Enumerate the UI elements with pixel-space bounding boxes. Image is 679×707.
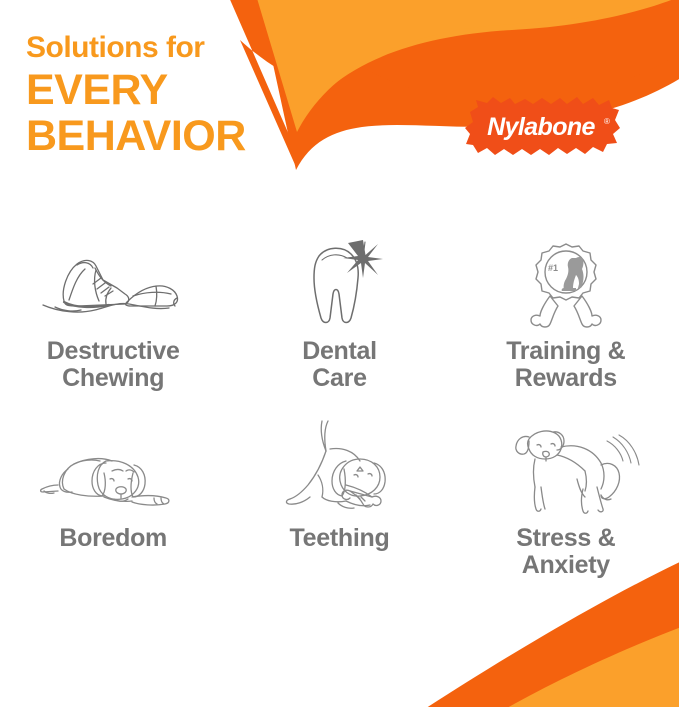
nylabone-logo: Nylabone ® [463, 88, 623, 168]
grid-item-label: Destructive Chewing [47, 338, 180, 392]
award-rosette-dog-icon: #1 [506, 238, 626, 330]
grid-item-label: Teething [290, 525, 390, 552]
grid-item-label: Training & Rewards [506, 338, 625, 392]
badge-rank-label: #1 [548, 263, 558, 273]
bottom-swoosh-light-shape [500, 626, 679, 707]
grid-item-boredom: Boredom [0, 419, 226, 600]
grid-item-label: Dental Care [302, 338, 377, 392]
grid-item-label: Boredom [59, 525, 167, 552]
headline-line-1: Solutions for [26, 33, 326, 63]
lying-bored-dog-icon [28, 419, 198, 519]
grid-item-dental-care: Dental Care [226, 238, 452, 419]
logo-wordmark: Nylabone [487, 113, 595, 141]
puppy-chewing-bone-icon [264, 419, 414, 519]
logo-registered-icon: ® [604, 117, 610, 126]
grid-item-teething: Teething [226, 419, 452, 600]
benefits-grid: Destructive Chewing Dental Care [0, 238, 679, 600]
grid-item-stress-anxiety: Stress & Anxiety [453, 419, 679, 600]
chewed-shoe-icon [33, 238, 193, 330]
sitting-dog-glyph [563, 257, 583, 290]
headline-line-3: BEHAVIOR [26, 115, 326, 158]
grid-item-destructive-chewing: Destructive Chewing [0, 238, 226, 419]
grid-item-label: Stress & Anxiety [516, 525, 615, 579]
headline-block: Solutions for EVERY BEHAVIOR [26, 33, 326, 161]
grid-item-training-rewards: #1 Training & Rewards [453, 238, 679, 419]
sparkling-tooth-icon [279, 238, 399, 330]
promo-banner: Solutions for EVERY BEHAVIOR Nylabone ® [0, 0, 679, 707]
standing-anxious-dog-icon [491, 419, 641, 519]
sparkle-glyph [343, 240, 383, 278]
headline-line-2: EVERY [26, 69, 326, 112]
